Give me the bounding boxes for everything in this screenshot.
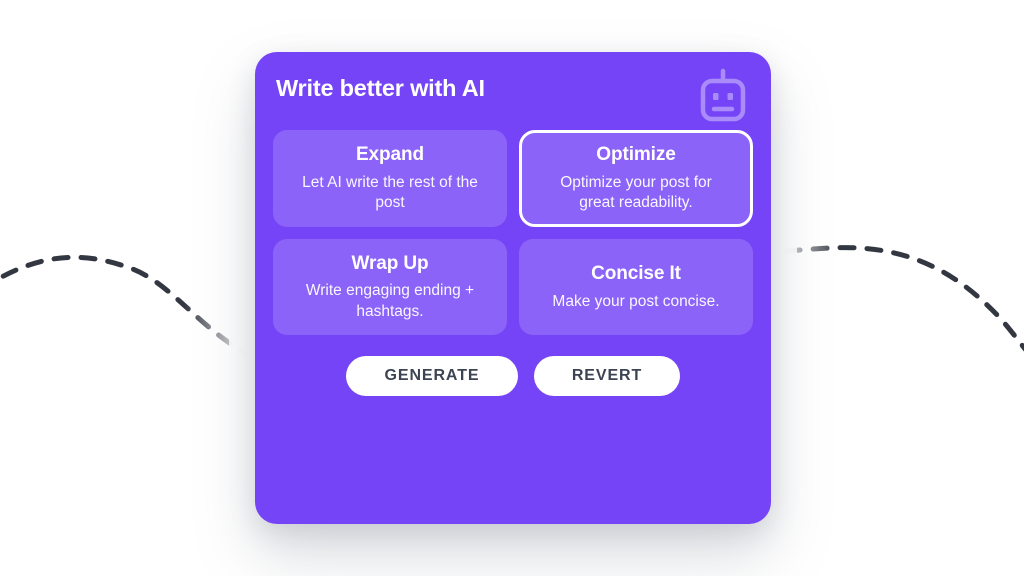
option-card-expand[interactable]: Expand Let AI write the rest of the post	[273, 130, 507, 227]
option-description: Let AI write the rest of the post	[295, 173, 485, 214]
generate-button[interactable]: GENERATE	[346, 356, 518, 396]
option-description: Optimize your post for great readability…	[541, 173, 731, 214]
option-title: Expand	[356, 143, 424, 167]
panel-header: Write better with AI	[273, 74, 753, 126]
option-title: Optimize	[596, 143, 675, 167]
page-title: Write better with AI	[276, 74, 485, 102]
action-bar: GENERATE REVERT	[273, 356, 753, 396]
option-title: Concise It	[591, 262, 681, 286]
option-description: Write engaging ending + hashtags.	[295, 281, 485, 322]
revert-button[interactable]: REVERT	[534, 356, 680, 396]
ai-writer-panel: Write better with AI Expand Let AI write…	[255, 52, 771, 524]
option-card-concise-it[interactable]: Concise It Make your post concise.	[519, 239, 753, 336]
option-title: Wrap Up	[351, 252, 428, 276]
option-description: Make your post concise.	[552, 292, 719, 312]
option-card-wrap-up[interactable]: Wrap Up Write engaging ending + hashtags…	[273, 239, 507, 336]
robot-icon	[697, 68, 749, 129]
options-grid: Expand Let AI write the rest of the post…	[273, 130, 753, 335]
option-card-optimize[interactable]: Optimize Optimize your post for great re…	[519, 130, 753, 227]
